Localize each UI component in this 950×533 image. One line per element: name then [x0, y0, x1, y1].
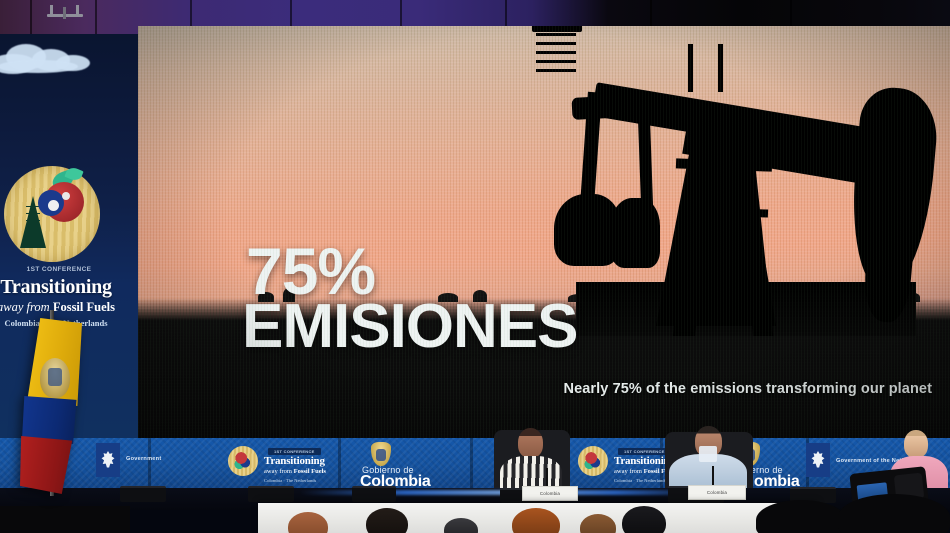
panelist-far-right-head [904, 430, 928, 458]
colombia-coat-of-arms-icon [40, 358, 70, 398]
backdrop-sub-lead-2: away from [614, 468, 642, 475]
name-placard-left-text: Colombia [523, 491, 577, 496]
screen-headline-secondary: EMISIONES [242, 298, 578, 356]
backdrop-title-1: Transitioning [264, 455, 325, 467]
name-placard-left: Colombia [522, 486, 578, 501]
foreground-silhouette-right [756, 500, 846, 533]
backdrop-sub-1: away from Fossil Fuels [264, 468, 326, 475]
banner-kicker: 1st Conference [0, 266, 122, 273]
cloud-graphic-icon [0, 40, 100, 74]
panel-monitor-2 [248, 486, 294, 502]
netherlands-crest-icon-2 [96, 443, 120, 477]
backdrop-kicker-1: 1st Conference [268, 448, 321, 455]
left-conference-banner: 1st Conference Transitioning away from F… [0, 154, 122, 344]
name-placard-right-text: Colombia [689, 490, 745, 495]
led-video-wall: 75% EMISIONES Nearly 75% of the emission… [138, 26, 950, 438]
netherlands-label-short: Government [126, 456, 161, 462]
foreground-silhouette-left [0, 506, 130, 533]
screenshot-root: 1st Conference Transitioning away from F… [0, 0, 950, 533]
backdrop-sub-bold-1: Fossil Fuels [294, 468, 326, 475]
screen-caption: Nearly 75% of the emissions transforming… [564, 381, 933, 397]
audience-head-6 [622, 506, 666, 533]
banner-subtitle: away from Fossil Fuels [0, 300, 122, 315]
panel-monitor-3 [352, 486, 396, 502]
backdrop-sub-lead-1: away from [264, 468, 292, 475]
name-placard-right: Colombia [688, 485, 746, 500]
foreground-silhouette-far-right [838, 494, 950, 533]
water-glass [699, 446, 717, 462]
conference-sun-logo-icon [4, 166, 100, 262]
netherlands-crest-icon-3 [806, 443, 830, 477]
backdrop-countries-1: Colombia · The Netherlands [264, 478, 316, 483]
banner-subtitle-lead: away from [0, 300, 50, 314]
banner-title: Transitioning [0, 276, 122, 299]
colombia-shield-icon-1 [371, 442, 391, 466]
conference-logo-icon-1 [228, 446, 258, 476]
panel-monitor-1 [120, 486, 166, 502]
panelist-left-head [518, 428, 543, 458]
conference-logo-icon-2 [578, 446, 608, 476]
banner-subtitle-bold: Fossil Fuels [53, 300, 115, 314]
colombia-flag [22, 318, 84, 493]
oil-pumpjack-silhouette [536, 30, 950, 330]
backdrop-countries-2: Colombia · The Netherlands [614, 478, 666, 483]
audience-head-2 [366, 508, 408, 533]
ceiling-truss-icon [47, 5, 83, 23]
